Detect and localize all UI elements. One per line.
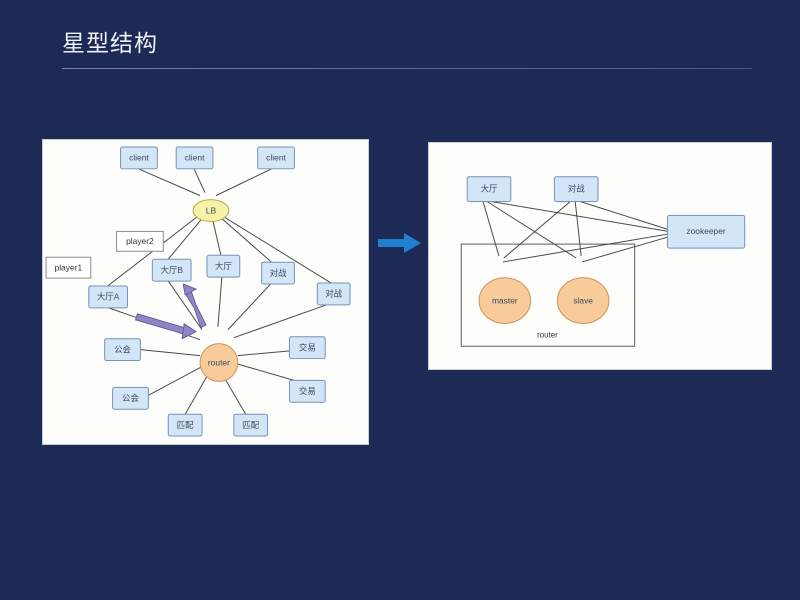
node-label: player2	[126, 236, 154, 246]
node-label: 大厅	[481, 183, 498, 193]
node-trade-2[interactable]: 交易	[289, 380, 325, 402]
node-label: 大厅	[215, 261, 232, 271]
page-title: 星型结构	[62, 24, 158, 58]
node-lobby[interactable]: 大厅	[467, 177, 511, 202]
node-lobby-a[interactable]: 大厅A	[89, 286, 128, 308]
node-label: zookeeper	[686, 226, 725, 236]
right-diagram-svg: router 大厅 对战	[429, 143, 771, 369]
node-zookeeper[interactable]: zookeeper	[667, 215, 744, 248]
node-client-3[interactable]: client	[258, 147, 295, 169]
node-lb[interactable]: LB	[193, 200, 229, 222]
node-label: 匹配	[177, 420, 194, 430]
node-label: router	[208, 357, 230, 367]
node-label: 对战	[325, 289, 342, 299]
node-client-2[interactable]: client	[176, 147, 213, 169]
node-trade-1[interactable]: 交易	[289, 337, 325, 359]
slide-canvas: 星型结构	[0, 0, 800, 600]
node-guild-1[interactable]: 公会	[105, 339, 141, 361]
right-arrow-icon	[376, 230, 424, 256]
left-diagram-panel: client client client LB player2 player1	[42, 139, 369, 445]
node-label: 对战	[270, 268, 287, 278]
node-label: master	[492, 295, 518, 305]
node-label: player1	[55, 262, 83, 272]
node-client-1[interactable]: client	[121, 147, 158, 169]
node-guild-2[interactable]: 公会	[113, 387, 149, 409]
node-label: 公会	[114, 344, 131, 354]
node-label: 交易	[299, 342, 316, 352]
router-group-label: router	[537, 330, 558, 339]
node-label: 大厅A	[97, 292, 120, 302]
node-match-2[interactable]: 匹配	[234, 414, 268, 436]
right-diagram-panel: router 大厅 对战	[428, 142, 772, 370]
left-diagram-svg: client client client LB player2 player1	[43, 140, 368, 444]
node-battle-1[interactable]: 对战	[262, 262, 295, 284]
node-label: 公会	[122, 393, 139, 403]
node-label: 大厅B	[160, 265, 183, 275]
right-edges	[483, 201, 667, 261]
node-battle-2[interactable]: 对战	[317, 283, 350, 305]
highlight-arrow-down	[135, 314, 196, 339]
node-label: client	[266, 153, 286, 163]
node-router[interactable]: router	[200, 344, 238, 382]
node-label: 交易	[299, 386, 316, 396]
node-label: 匹配	[242, 420, 259, 430]
node-player1[interactable]: player1	[46, 257, 91, 278]
node-label: client	[185, 153, 205, 163]
node-lobby[interactable]: 大厅	[207, 255, 240, 277]
node-slave[interactable]: slave	[557, 278, 609, 324]
node-battle[interactable]: 对战	[554, 177, 598, 202]
highlight-arrow-up	[183, 284, 206, 328]
node-label: 对战	[568, 183, 585, 193]
node-label: client	[129, 153, 149, 163]
node-master[interactable]: master	[479, 278, 531, 324]
node-label: LB	[206, 205, 217, 215]
node-label: slave	[573, 295, 593, 305]
title-divider	[62, 68, 752, 69]
node-match-1[interactable]: 匹配	[168, 414, 202, 436]
node-player2[interactable]: player2	[117, 231, 164, 251]
node-lobby-b[interactable]: 大厅B	[152, 259, 191, 281]
